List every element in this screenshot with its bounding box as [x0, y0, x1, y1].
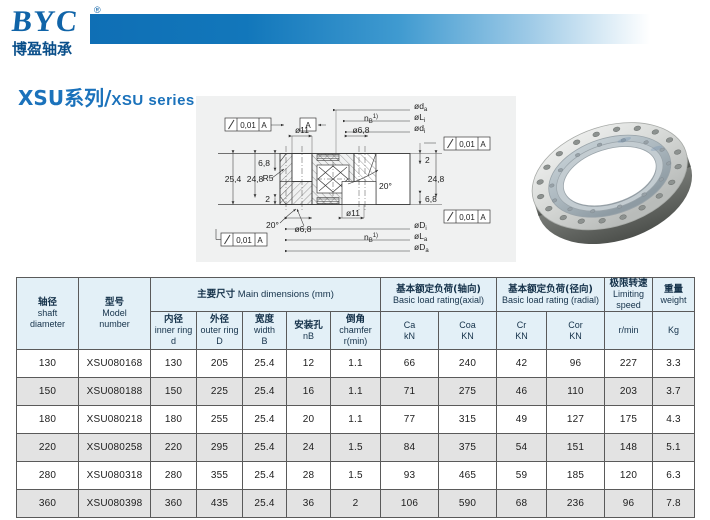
- table-row[interactable]: 280 XSU080318 280 355 25.4 28 1.5 93 465…: [17, 462, 695, 490]
- cell-nB: 16: [287, 378, 331, 406]
- subheader-ca: Ca kN: [381, 312, 439, 350]
- cell-nB: 12: [287, 350, 331, 378]
- header-model-number-en2: number: [79, 319, 150, 330]
- cell-model: XSU080168: [79, 350, 151, 378]
- cell-Coa: 315: [439, 406, 497, 434]
- cell-Cr: 68: [497, 490, 547, 518]
- cell-Coa: 275: [439, 378, 497, 406]
- cell-B: 25.4: [243, 462, 287, 490]
- subheader-cor: Cor KN: [547, 312, 605, 350]
- cell-Coa: 465: [439, 462, 497, 490]
- cell-shaft-diameter: 220: [17, 434, 79, 462]
- radius-r5: R5: [263, 173, 274, 183]
- cell-Cr: 54: [497, 434, 547, 462]
- dim-2-left: 2: [265, 194, 270, 204]
- header-shaft-diameter-en2: diameter: [17, 319, 78, 330]
- header-gradient-bar: [90, 14, 650, 44]
- dia-6-8-bottom: ø6,8: [294, 224, 311, 234]
- slewing-ring-bearing-image: [518, 98, 704, 262]
- angle-20-top: 20°: [379, 181, 392, 191]
- cell-Ca: 66: [381, 350, 439, 378]
- subheader-cr: Cr KN: [497, 312, 547, 350]
- cell-nB: 20: [287, 406, 331, 434]
- dim-25-4: 25,4: [225, 174, 242, 184]
- header-main-dimensions-en: Main dimensions (mm): [235, 289, 334, 300]
- angle-20-bottom: 20°: [266, 220, 279, 230]
- cell-r-min: 1.5: [331, 462, 381, 490]
- cell-model: XSU080218: [79, 406, 151, 434]
- cell-D: 295: [197, 434, 243, 462]
- cell-Cr: 59: [497, 462, 547, 490]
- cell-d: 280: [151, 462, 197, 490]
- page-title-chinese: XSU系列: [18, 86, 104, 110]
- cell-Coa: 240: [439, 350, 497, 378]
- table-row[interactable]: 150 XSU080188 150 225 25.4 16 1.1 71 275…: [17, 378, 695, 406]
- cell-speed: 96: [605, 490, 653, 518]
- page-title: XSU系列/XSU series: [18, 82, 195, 111]
- header-shaft-diameter: 轴径 shaft diameter: [17, 278, 79, 350]
- header-load-rating-axial: 基本额定负荷(轴向) Basic load rating(axial): [381, 278, 497, 312]
- specification-table: 轴径 shaft diameter 型号 Model number 主要尺寸 M…: [16, 277, 695, 518]
- svg-text:A: A: [257, 236, 263, 245]
- cell-nB: 24: [287, 434, 331, 462]
- specification-table-wrapper: 轴径 shaft diameter 型号 Model number 主要尺寸 M…: [16, 277, 694, 518]
- cell-shaft-diameter: 360: [17, 490, 79, 518]
- dim-6-8-bottom-right: 6,8: [425, 194, 437, 204]
- logo-chinese-name: 博盈轴承: [12, 38, 72, 59]
- cell-Cor: 96: [547, 350, 605, 378]
- cell-weight: 7.8: [653, 490, 695, 518]
- svg-text:A: A: [480, 140, 486, 149]
- cell-weight: 3.7: [653, 378, 695, 406]
- cell-d: 360: [151, 490, 197, 518]
- cell-nB: 36: [287, 490, 331, 518]
- dia-11-bottom: ø11: [346, 208, 360, 218]
- cell-speed: 227: [605, 350, 653, 378]
- header-limiting-speed-en2: speed: [605, 300, 652, 311]
- table-header-row-top: 轴径 shaft diameter 型号 Model number 主要尺寸 M…: [17, 278, 695, 312]
- svg-text:0,01: 0,01: [459, 140, 475, 149]
- nb-label-bottom: nB1): [364, 232, 378, 244]
- cell-speed: 175: [605, 406, 653, 434]
- cell-model: XSU080318: [79, 462, 151, 490]
- cell-Cor: 185: [547, 462, 605, 490]
- product-photo: [518, 98, 704, 262]
- page-title-english: XSU series: [111, 92, 194, 109]
- svg-text:0,01: 0,01: [459, 213, 475, 222]
- cell-Ca: 93: [381, 462, 439, 490]
- subheader-kg: Kg: [653, 312, 695, 350]
- subheader-width: 宽度 width B: [243, 312, 287, 350]
- logo-text: BYC: [10, 7, 79, 37]
- header-weight-cn: 重量: [653, 284, 694, 295]
- svg-text:A: A: [261, 121, 267, 130]
- cell-shaft-diameter: 150: [17, 378, 79, 406]
- cell-Coa: 375: [439, 434, 497, 462]
- cell-model: XSU080398: [79, 490, 151, 518]
- table-row[interactable]: 180 XSU080218 180 255 25.4 20 1.1 77 315…: [17, 406, 695, 434]
- header-load-rating-radial-cn: 基本额定负荷(径向): [497, 284, 604, 295]
- header-model-number-cn: 型号: [79, 297, 150, 308]
- cell-D: 355: [197, 462, 243, 490]
- gtol-box-right-upper: 0,01 A: [444, 137, 490, 150]
- cell-model: XSU080258: [79, 434, 151, 462]
- cell-Ca: 71: [381, 378, 439, 406]
- cell-Cor: 236: [547, 490, 605, 518]
- cell-B: 25.4: [243, 434, 287, 462]
- table-row[interactable]: 130 XSU080168 130 205 25.4 12 1.1 66 240…: [17, 350, 695, 378]
- cell-r-min: 1.5: [331, 434, 381, 462]
- cell-weight: 5.1: [653, 434, 695, 462]
- cell-speed: 203: [605, 378, 653, 406]
- dim-6-8-top-left: 6,8: [258, 158, 270, 168]
- table-row[interactable]: 360 XSU080398 360 435 25.4 36 2 106 590 …: [17, 490, 695, 518]
- cell-Cor: 151: [547, 434, 605, 462]
- header-main-dimensions-cn: 主要尺寸: [197, 289, 235, 300]
- cell-Cor: 127: [547, 406, 605, 434]
- cell-B: 25.4: [243, 350, 287, 378]
- cell-D: 205: [197, 350, 243, 378]
- cell-d: 220: [151, 434, 197, 462]
- subheader-chamfer: 倒角 chamfer r(min): [331, 312, 381, 350]
- cell-weight: 3.3: [653, 350, 695, 378]
- dim-24-8-left: 24,8: [247, 174, 264, 184]
- header-main-dimensions: 主要尺寸 Main dimensions (mm): [151, 278, 381, 312]
- gtol-box-right-lower: 0,01 A: [444, 210, 490, 223]
- subheader-rpm: r/min: [605, 312, 653, 350]
- nb-label-top: nB1): [364, 113, 378, 125]
- header-limiting-speed: 极限转速 Limiting speed: [605, 278, 653, 312]
- cell-Ca: 106: [381, 490, 439, 518]
- cell-r-min: 1.1: [331, 406, 381, 434]
- table-body: 130 XSU080168 130 205 25.4 12 1.1 66 240…: [17, 350, 695, 518]
- subheader-inner-ring: 内径 inner ring d: [151, 312, 197, 350]
- page-header: BYC ® 博盈轴承: [0, 0, 710, 60]
- cell-D: 435: [197, 490, 243, 518]
- cell-speed: 148: [605, 434, 653, 462]
- cell-Ca: 77: [381, 406, 439, 434]
- cell-B: 25.4: [243, 378, 287, 406]
- header-shaft-diameter-cn: 轴径: [17, 297, 78, 308]
- cell-r-min: 2: [331, 490, 381, 518]
- cell-weight: 4.3: [653, 406, 695, 434]
- svg-text:0,01: 0,01: [236, 236, 252, 245]
- cell-Cr: 49: [497, 406, 547, 434]
- cell-shaft-diameter: 130: [17, 350, 79, 378]
- svg-text:0,01: 0,01: [240, 121, 256, 130]
- cell-shaft-diameter: 280: [17, 462, 79, 490]
- dim-24-8-right: 24,8: [428, 174, 445, 184]
- header-limiting-speed-cn: 极限转速: [605, 278, 652, 289]
- cell-d: 150: [151, 378, 197, 406]
- dia-11-top: ø11: [295, 125, 309, 135]
- dia-di-label: ødi: [414, 123, 425, 135]
- cell-B: 25.4: [243, 490, 287, 518]
- cell-D: 255: [197, 406, 243, 434]
- cell-r-min: 1.1: [331, 350, 381, 378]
- cell-nB: 28: [287, 462, 331, 490]
- dia-Da-label: øDa: [414, 242, 429, 254]
- cell-shaft-diameter: 180: [17, 406, 79, 434]
- header-load-rating-axial-en: Basic load rating(axial): [381, 295, 496, 306]
- header-model-number: 型号 Model number: [79, 278, 151, 350]
- header-load-rating-radial-en: Basic load rating (radial): [497, 295, 604, 306]
- header-weight-en: weight: [653, 295, 694, 306]
- cell-D: 225: [197, 378, 243, 406]
- subheader-coa: Coa KN: [439, 312, 497, 350]
- cell-d: 180: [151, 406, 197, 434]
- cell-Cr: 46: [497, 378, 547, 406]
- gtol-box-bottom-left: 0,01 A: [216, 229, 267, 246]
- subheader-outer-ring: 外径 outer ring D: [197, 312, 243, 350]
- dia-6-8-top: ø6,8: [352, 125, 369, 135]
- cell-B: 25.4: [243, 406, 287, 434]
- cell-Cor: 110: [547, 378, 605, 406]
- cell-d: 130: [151, 350, 197, 378]
- cell-weight: 6.3: [653, 462, 695, 490]
- table-row[interactable]: 220 XSU080258 220 295 25.4 24 1.5 84 375…: [17, 434, 695, 462]
- cell-r-min: 1.1: [331, 378, 381, 406]
- subheader-mounting-hole: 安装孔 nB: [287, 312, 331, 350]
- svg-text:A: A: [480, 213, 486, 222]
- gtol-box-top-left: 0,01 A: [225, 118, 271, 131]
- technical-drawing-panel: 0,01 A A 0,01 A 0,01 A 0,01 A 25,4 24,8: [196, 96, 516, 262]
- bearing-cross-section-drawing: 0,01 A A 0,01 A 0,01 A 0,01 A 25,4 24,8: [196, 96, 516, 262]
- cell-Cr: 42: [497, 350, 547, 378]
- header-load-rating-axial-cn: 基本额定负荷(轴向): [381, 284, 496, 295]
- dim-2-right: 2: [425, 155, 430, 165]
- cell-model: XSU080188: [79, 378, 151, 406]
- cell-Ca: 84: [381, 434, 439, 462]
- header-shaft-diameter-en1: shaft: [17, 308, 78, 319]
- header-model-number-en1: Model: [79, 308, 150, 319]
- header-weight: 重量 weight: [653, 278, 695, 312]
- cell-speed: 120: [605, 462, 653, 490]
- header-load-rating-radial: 基本额定负荷(径向) Basic load rating (radial): [497, 278, 605, 312]
- header-limiting-speed-en1: Limiting: [605, 289, 652, 300]
- cell-Coa: 590: [439, 490, 497, 518]
